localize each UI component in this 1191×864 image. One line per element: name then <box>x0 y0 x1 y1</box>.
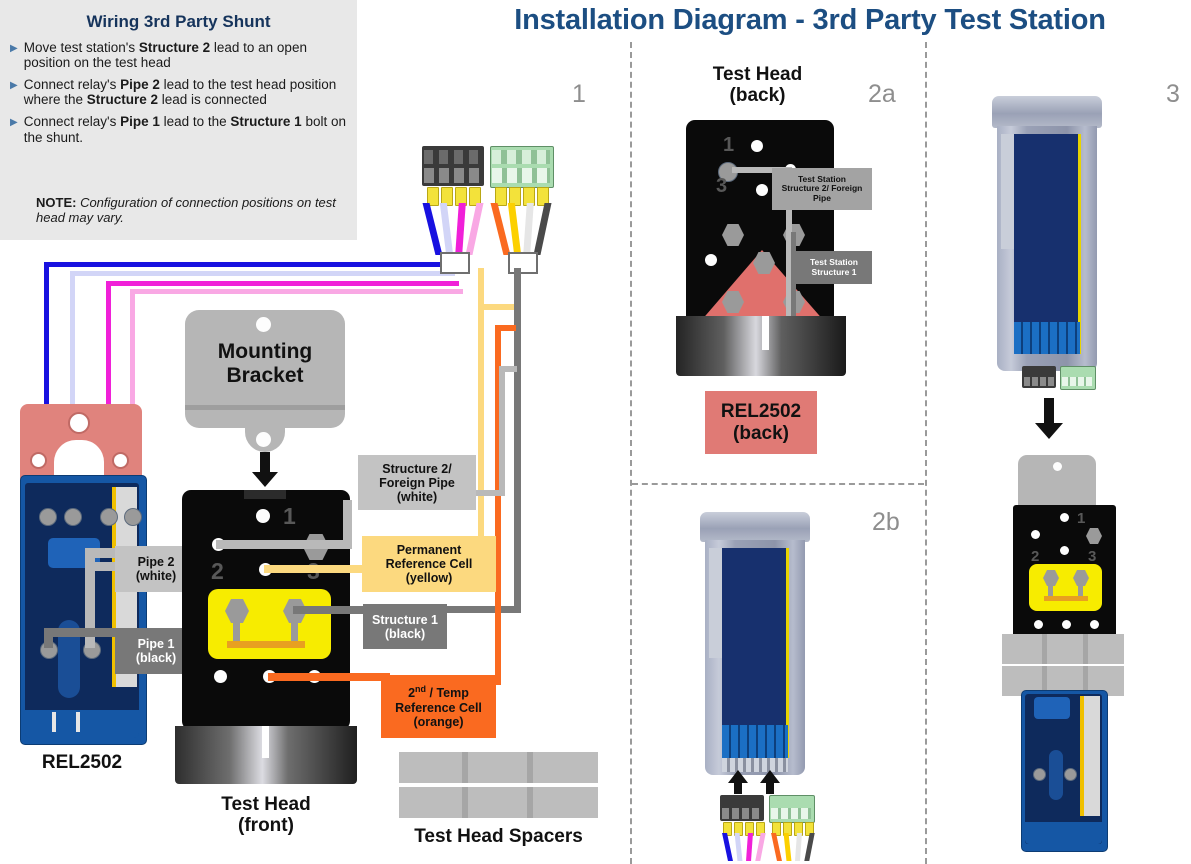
callout-pipe-2-text: Pipe 2(white) <box>136 555 176 583</box>
shunt-block-yellow[interactable] <box>208 589 331 659</box>
callout-second-temp-reference-cell: 2nd / TempReference Cell(orange) <box>381 675 496 738</box>
panel3-shunt-block[interactable] <box>1029 564 1102 611</box>
terminal-block-dark-2b-ports <box>722 808 762 819</box>
wire-structure-1-black-vert <box>514 268 521 613</box>
relay-bottom-slot <box>76 712 80 732</box>
wire-ref-cell-2-lavender <box>70 271 455 276</box>
terminal-block-green-3-ports <box>1062 377 1092 386</box>
up-arrow-icon <box>759 770 781 794</box>
device-3-side-label <box>1001 134 1014 249</box>
pigtail-2b-blue <box>722 833 733 861</box>
test-head-front-top-notch <box>244 490 286 499</box>
shunt-bracket-hole <box>112 452 129 469</box>
wire-structure-2-white-join <box>499 366 517 372</box>
panel3-relay-side-label <box>1084 696 1100 816</box>
pigtail-pink <box>465 203 483 255</box>
rel2502-back-label-line1: REL2502 <box>721 401 801 422</box>
callout-structure-2-foreign-pipe: Structure 2/Foreign Pipe(white) <box>358 455 476 510</box>
panel3-port-dot <box>1090 620 1099 629</box>
mounting-bracket-seam <box>185 405 345 410</box>
instruction-text: Connect relay's Pipe 1 lead to the Struc… <box>24 114 350 144</box>
instructions-note: NOTE: Configuration of connection positi… <box>36 196 346 225</box>
pigtail-2b-white <box>795 833 802 861</box>
device-2b-side-label <box>709 548 722 658</box>
instructions-title: Wiring 3rd Party Shunt <box>0 12 357 32</box>
lead-structure-2-white-riser <box>343 500 352 545</box>
pigtail-orange <box>491 203 511 255</box>
page-title: Installation Diagram - 3rd Party Test St… <box>440 4 1180 37</box>
test-head-back-dot <box>751 140 763 152</box>
panel3-relay-bolt-pipe-1[interactable] <box>1033 768 1046 781</box>
spacer-seam <box>462 752 468 783</box>
test-head-base-notch <box>262 726 269 758</box>
callout-permanent-ref-text: PermanentReference Cell(yellow) <box>386 543 473 585</box>
test-head-back-base <box>676 316 846 376</box>
relay-terminal-shunt-minus[interactable] <box>124 508 142 526</box>
step-number-3: 3 <box>1166 80 1180 109</box>
pigtail-2b-yellow <box>784 833 792 861</box>
test-head-port-dot <box>214 670 227 683</box>
wire-shunt-minus-pink <box>130 289 463 294</box>
panel3-port-number-2: 2 <box>1031 548 1039 565</box>
test-head-port-number-2: 2 <box>211 558 224 585</box>
list-item: ▶ Connect relay's Pipe 2 lead to the tes… <box>10 77 350 107</box>
step-number-2b: 2b <box>872 508 900 537</box>
panel3-port-number-3: 3 <box>1088 548 1096 565</box>
wire-shunt-plus-magenta <box>106 281 459 286</box>
panel2a-caption-line1: Test Head <box>690 64 825 85</box>
test-head-back-dot <box>756 184 768 196</box>
instructions-list: ▶ Move test station's Structure 2 lead t… <box>10 40 350 152</box>
mounting-bracket-label-line1: Mounting <box>185 340 345 364</box>
pigtail-black <box>533 203 551 255</box>
test-head-back-number-1: 1 <box>723 134 734 157</box>
mounting-bracket-hole-bottom <box>256 432 271 447</box>
terminal-block-dark-3-ports <box>1024 377 1054 386</box>
mounting-bracket-label: Mounting Bracket <box>185 340 345 387</box>
terminal-block-dark-screws <box>424 150 482 164</box>
callout-test-station-structure-2: Test StationStructure 2/ ForeignPipe <box>772 168 872 210</box>
callout-temp-ref-text: 2nd / TempReference Cell(orange) <box>395 684 482 728</box>
wire-ref-cell-1-blue <box>44 262 451 267</box>
divider-column-2-3 <box>925 42 927 864</box>
panel3-port-dot <box>1062 620 1071 629</box>
down-arrow-icon <box>1032 398 1066 440</box>
relay-bottom-slot <box>52 712 56 732</box>
pigtail-2b-orange <box>771 833 782 861</box>
panel3-port-dot <box>1060 546 1069 555</box>
terminal-block-dark-ports <box>424 168 482 183</box>
panel3-port-dot <box>1034 620 1043 629</box>
panel3-relay-bottom-tabs <box>1025 822 1102 844</box>
panel3-relay-stripe-yellow <box>1080 696 1084 816</box>
panel3-relay-bolt-pipe-2[interactable] <box>1064 768 1077 781</box>
test-head-front-caption: Test Head (front) <box>175 794 357 837</box>
pigtail-white <box>523 203 534 255</box>
terminal-block-green-screws <box>492 150 550 164</box>
relay-bottom-tabs <box>25 710 139 738</box>
list-item: ▶ Move test station's Structure 2 lead t… <box>10 40 350 70</box>
panel3-relay-capacitor <box>1034 697 1070 719</box>
pigtail-lavender <box>440 203 453 255</box>
bullet-triangle-icon: ▶ <box>10 117 18 144</box>
rel2502-back-label: REL2502 (back) <box>705 391 817 454</box>
terminal-block-green-ports <box>492 168 550 183</box>
test-head-spacer-top <box>399 752 598 783</box>
bullet-triangle-icon: ▶ <box>10 80 18 107</box>
panel3-spacer-top <box>1002 634 1124 664</box>
callout-pipe-1-text: Pipe 1(black) <box>136 637 176 665</box>
device-3-faceplate <box>1014 134 1080 354</box>
lead-structure-2-white <box>216 540 352 549</box>
shunt-bar <box>227 641 305 648</box>
relay-caption: REL2502 <box>16 752 148 774</box>
pigtail-yellow <box>508 203 521 255</box>
wire-structure-2-white-vert <box>499 366 505 496</box>
mounting-bracket-hole-top <box>256 317 271 332</box>
instruction-text: Connect relay's Pipe 2 lead to the test … <box>24 77 350 107</box>
spacer-seam <box>527 787 533 818</box>
callout-test-station-structure-1: Test StationStructure 1 <box>796 251 872 284</box>
test-head-spacer-bottom <box>399 787 598 818</box>
test-head-back-base-notch <box>762 316 769 350</box>
pigtail-2b-lavender <box>735 833 743 861</box>
up-arrow-icon <box>727 770 749 794</box>
test-head-front-caption-line1: Test Head <box>175 794 357 815</box>
wire-permanent-ref-yellow-vert-outer <box>478 308 484 548</box>
callout-structure-1: Structure 1(black) <box>363 604 447 649</box>
relay-terminal-shunt-plus[interactable] <box>100 508 118 526</box>
device-3-cap <box>992 96 1102 128</box>
panel3-port-dot <box>1060 513 1069 522</box>
mounting-bracket-label-line2: Bracket <box>185 364 345 388</box>
spacer-seam <box>527 752 533 783</box>
panel3-bracket-hole <box>1053 462 1062 471</box>
pigtail-magenta <box>455 203 466 255</box>
cable-sheath-right <box>508 252 538 274</box>
rel2502-back-label-line2: (back) <box>733 423 789 444</box>
test-head-front-caption-line2: (front) <box>175 815 357 836</box>
callout-permanent-reference-cell: PermanentReference Cell(yellow) <box>362 536 496 592</box>
list-item: ▶ Connect relay's Pipe 1 lead to the Str… <box>10 114 350 144</box>
device-2b-terminal-divider <box>722 725 788 758</box>
callout-structure-2-text: Structure 2/Foreign Pipe(white) <box>379 462 455 504</box>
panel3-relay-shunt-bar <box>1049 750 1063 800</box>
pigtail-blue <box>423 203 443 255</box>
down-arrow-icon <box>248 452 282 488</box>
wire-permanent-ref-yellow-join <box>478 304 514 310</box>
callout-test-station-structure-2-text: Test StationStructure 2/ ForeignPipe <box>782 175 863 204</box>
device-3-stripe-yellow <box>1078 134 1081 354</box>
panel3-spacer-seam <box>1042 634 1047 664</box>
terminal-block-green-2b-ports <box>771 808 811 819</box>
panel2a-caption: Test Head (back) <box>690 64 825 107</box>
test-head-port-dot <box>256 509 270 523</box>
step-number-2a: 2a <box>868 80 896 109</box>
panel3-port-dot <box>1031 530 1040 539</box>
pigtail-2b-black <box>804 833 814 861</box>
divider-2a-2b <box>632 483 924 485</box>
shunt-bracket-hole <box>68 412 90 434</box>
device-3-terminal-strip <box>1014 322 1080 354</box>
callout-structure-1-text: Structure 1(black) <box>372 613 438 641</box>
wire-temp-ref-orange-join <box>495 325 516 331</box>
spacer-seam <box>462 787 468 818</box>
relay-terminal-ref-cell-1[interactable] <box>39 508 57 526</box>
shunt-bracket-hole <box>30 452 47 469</box>
cable-sheath-left <box>440 252 470 274</box>
bullet-triangle-icon: ▶ <box>10 43 18 70</box>
panel3-spacer-seam <box>1083 634 1088 664</box>
test-head-spacers-caption: Test Head Spacers <box>389 826 608 847</box>
test-head-port-number-1: 1 <box>283 503 296 530</box>
device-2b-cap <box>700 512 810 542</box>
relay-terminal-ref-cell-2[interactable] <box>64 508 82 526</box>
divider-column-1-2 <box>630 42 632 864</box>
instruction-text: Move test station's Structure 2 lead to … <box>24 40 350 70</box>
panel3-shunt-bar <box>1044 596 1088 601</box>
test-head-back-number-3: 3 <box>716 175 727 198</box>
lead-structure-1-black <box>293 606 373 614</box>
lead-pipe-1-black-vert <box>44 628 53 648</box>
step-number-1: 1 <box>572 80 586 109</box>
pigtail-2b-pink <box>755 833 765 861</box>
panel2a-caption-line2: (back) <box>690 85 825 106</box>
pigtail-2b-magenta <box>746 833 753 861</box>
lead-temp-ref-orange <box>268 673 390 681</box>
callout-test-station-structure-1-text: Test StationStructure 1 <box>810 258 858 277</box>
panel3-port-number-1: 1 <box>1077 510 1085 527</box>
